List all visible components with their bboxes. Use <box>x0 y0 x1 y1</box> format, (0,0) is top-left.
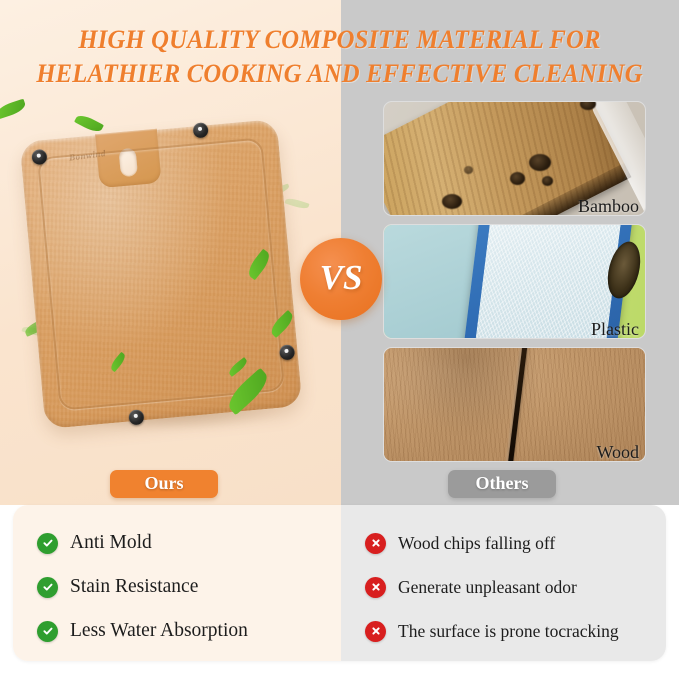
vs-badge-label: VS <box>320 258 363 298</box>
cons-list-item-label: Wood chips falling off <box>398 533 555 554</box>
check-icon <box>37 533 58 554</box>
mold-spot <box>529 154 551 171</box>
pros-column: Anti Mold Stain Resistance Less Water Ab… <box>13 505 341 661</box>
check-icon <box>37 577 58 598</box>
photo-label-wood: Wood <box>596 442 639 462</box>
pros-list-item: Less Water Absorption <box>37 609 341 653</box>
photo-card-wood: Wood <box>383 347 646 462</box>
photo-label-plastic: Plastic <box>591 319 639 339</box>
cons-list-item-label: The surface is prone tocracking <box>398 621 619 642</box>
pros-list-item-label: Less Water Absorption <box>70 620 248 642</box>
pros-list-item: Stain Resistance <box>37 565 341 609</box>
pros-list-item: Anti Mold <box>37 521 341 565</box>
pros-list-item-label: Anti Mold <box>70 532 152 554</box>
check-icon <box>37 621 58 642</box>
mold-spot <box>510 172 525 185</box>
cross-icon <box>365 533 386 554</box>
feature-comparison-panel: Anti Mold Stain Resistance Less Water Ab… <box>13 505 666 661</box>
cons-list-item: Wood chips falling off <box>365 521 666 565</box>
product-comparison-infographic: HIGH QUALITY COMPOSITE MATERIAL FOR HELA… <box>0 0 679 679</box>
mold-spot <box>464 166 473 174</box>
mold-spot <box>542 176 553 186</box>
cons-list-item-label: Generate unpleasant odor <box>398 577 577 598</box>
cons-list-item: The surface is prone tocracking <box>365 609 666 653</box>
others-photo-list: Bamboo Plastic Wood <box>383 101 646 470</box>
cons-column: Wood chips falling off Generate unpleasa… <box>341 505 666 661</box>
photo-card-bamboo: Bamboo <box>383 101 646 216</box>
pros-list-item-label: Stain Resistance <box>70 576 198 598</box>
mold-spot <box>442 194 462 209</box>
cross-icon <box>365 577 386 598</box>
photo-card-plastic: Plastic <box>383 224 646 339</box>
cross-icon <box>365 621 386 642</box>
ours-label-pill: Ours <box>110 470 218 498</box>
ours-product-image: Bonwind <box>8 118 328 463</box>
photo-label-bamboo: Bamboo <box>578 196 639 216</box>
others-label-pill: Others <box>448 470 556 498</box>
vs-badge: VS <box>300 238 382 320</box>
cons-list-item: Generate unpleasant odor <box>365 565 666 609</box>
